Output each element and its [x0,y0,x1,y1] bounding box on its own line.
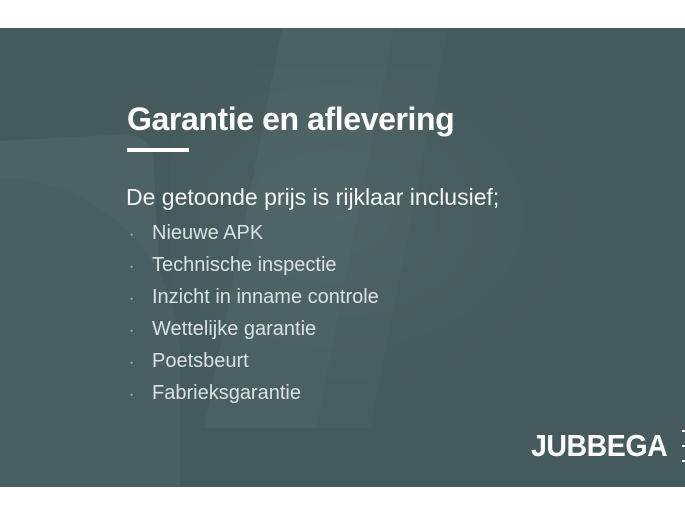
slide-content: Garantie en aflevering De getoonde prijs… [0,28,685,487]
logo-wordmark: JUBBEGA [531,430,667,462]
list-item: · Poetsbeurt [129,345,379,377]
list-item-label: Wettelijke garantie [152,313,316,345]
list-item-label: Fabrieksgarantie [152,377,301,409]
bullet-dot-icon: · [129,379,152,411]
list-item: · Fabrieksgarantie [129,377,379,409]
slide-panel: Garantie en aflevering De getoonde prijs… [0,28,685,487]
slide-title: Garantie en aflevering [127,100,454,138]
bullet-dot-icon: · [129,315,152,347]
list-item: · Nieuwe APK [129,217,379,249]
bullet-dot-icon: · [129,347,152,379]
slide-root: Garantie en aflevering De getoonde prijs… [0,0,685,514]
benefits-list: · Nieuwe APK · Technische inspectie · In… [129,217,379,409]
list-item-label: Poetsbeurt [152,345,249,377]
jubbega-logo: JUBBEGA SINDS 1924 [531,430,685,462]
list-item-label: Technische inspectie [152,249,337,281]
list-item: · Wettelijke garantie [129,313,379,345]
bullet-dot-icon: · [129,283,152,315]
list-item: · Technische inspectie [129,249,379,281]
title-underline-accent [127,148,189,152]
list-item-label: Inzicht in inname controle [152,281,379,313]
bullet-dot-icon: · [129,219,152,251]
slide-subtitle: De getoonde prijs is rijklaar inclusief; [126,183,499,211]
list-item-label: Nieuwe APK [152,217,263,249]
list-item: · Inzicht in inname controle [129,281,379,313]
bullet-dot-icon: · [129,251,152,283]
title-block: Garantie en aflevering [127,100,454,152]
